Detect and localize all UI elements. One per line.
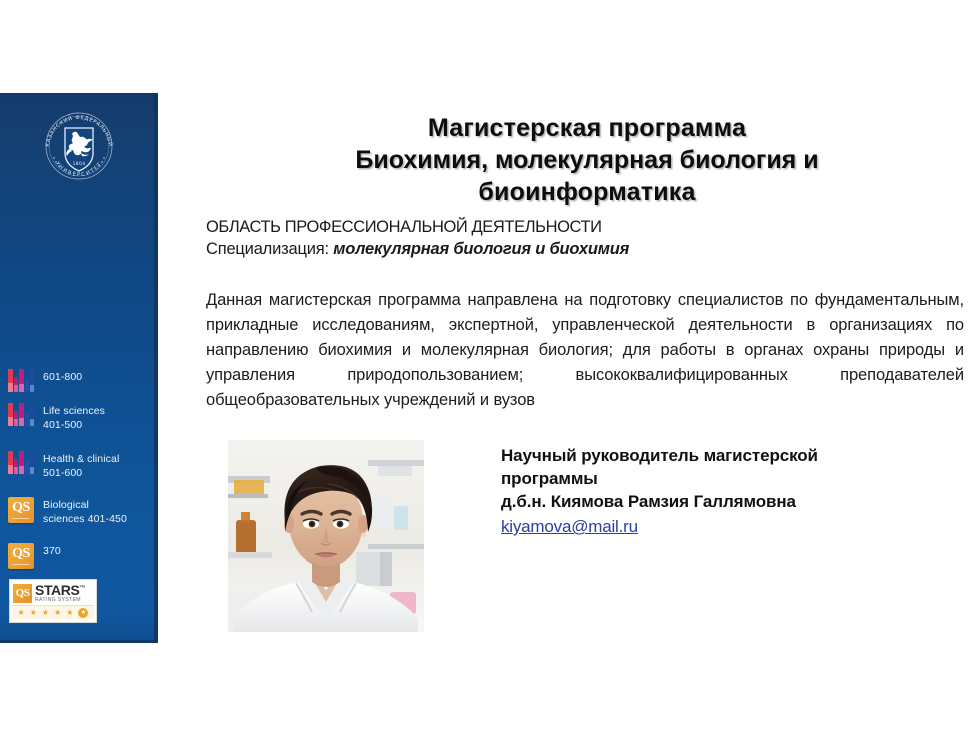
ranking-text: 601-800	[43, 369, 82, 385]
title-line-3: биоинформатика	[206, 176, 968, 208]
star-icon-highlighted: ★	[78, 608, 88, 618]
supervisor-name: д.б.н. Киямова Рамзия Галлямовна	[501, 490, 961, 513]
qs-stars-trademark: ™	[79, 585, 85, 591]
qs-logo-icon: QS	[13, 584, 32, 603]
svg-text:1804: 1804	[73, 161, 86, 167]
star-icon: ★	[30, 609, 37, 617]
ranking-row-qs-biological-sciences: QS Biological sciences 401-450	[8, 497, 127, 526]
slide-canvas: КАЗАНСКИЙ ФЕДЕРАЛЬНЫЙ УНИВЕРСИТЕТ	[0, 0, 980, 735]
supervisor-role-line-2: программы	[501, 467, 961, 490]
qs-stars-header: QS STARS™ RATING SYSTEM	[10, 580, 96, 603]
ranking-row-the-overall: 601-800	[8, 369, 82, 392]
star-icon: ★	[66, 609, 73, 617]
star-icon: ★	[42, 609, 49, 617]
professional-area-label: ОБЛАСТЬ ПРОФЕССИОНАЛЬНОЙ ДЕЯТЕЛЬНОСТИ	[206, 216, 968, 238]
supervisor-email-link[interactable]: kiyamova@mail.ru	[501, 515, 638, 538]
ranking-text: Life sciences 401-500	[43, 403, 105, 432]
ranking-row-the-health-clinical: Health & clinical 501-600	[8, 451, 119, 480]
qs-stars-subtitle: RATING SYSTEM	[35, 598, 85, 603]
ranking-row-qs-overall: QS 370	[8, 543, 61, 569]
kazan-federal-university-seal-icon: КАЗАНСКИЙ ФЕДЕРАЛЬНЫЙ УНИВЕРСИТЕТ	[36, 103, 122, 189]
ranking-text: Biological sciences 401-450	[43, 497, 127, 526]
title-line-1: Магистерская программа	[206, 112, 968, 144]
specialization-value: молекулярная биология и биохимия	[333, 240, 629, 258]
the-times-higher-education-logo-icon	[8, 403, 34, 426]
qs-stars-star-strip: ★ ★ ★ ★ ★ ★	[12, 605, 94, 619]
sidebar-bottom-edge	[0, 640, 158, 643]
subtitle-block: ОБЛАСТЬ ПРОФЕССИОНАЛЬНОЙ ДЕЯТЕЛЬНОСТИ Сп…	[206, 216, 968, 260]
program-description-paragraph: Данная магистерская программа направлена…	[206, 288, 964, 413]
supervisor-role-line-1: Научный руководитель магистерской	[501, 444, 961, 467]
supervisor-block: Научный руководитель магистерской програ…	[501, 444, 961, 538]
page-title: Магистерская программа Биохимия, молекул…	[206, 112, 968, 208]
qs-logo-icon: QS	[8, 543, 34, 569]
qs-stars-title: STARS™	[35, 583, 85, 597]
star-icon: ★	[54, 609, 61, 617]
slide-content: Магистерская программа Биохимия, молекул…	[206, 0, 968, 735]
qs-logo-icon: QS	[8, 497, 34, 523]
title-line-2: Биохимия, молекулярная биология и	[206, 144, 968, 176]
ranking-row-the-life-sciences: Life sciences 401-500	[8, 403, 105, 432]
ranking-text: 370	[43, 543, 61, 559]
the-times-higher-education-logo-icon	[8, 451, 34, 474]
sidebar-panel: КАЗАНСКИЙ ФЕДЕРАЛЬНЫЙ УНИВЕРСИТЕТ	[0, 93, 158, 643]
the-times-higher-education-logo-icon	[8, 369, 34, 392]
sidebar-right-edge	[154, 93, 158, 643]
qs-stars-wordmark: STARS™ RATING SYSTEM	[35, 583, 85, 603]
ranking-text: Health & clinical 501-600	[43, 451, 119, 480]
specialization-label: Специализация:	[206, 240, 333, 258]
star-icon: ★	[18, 609, 25, 617]
supervisor-photo	[228, 440, 424, 632]
qs-stars-rating-badge: QS STARS™ RATING SYSTEM ★ ★ ★ ★ ★ ★	[9, 579, 97, 623]
specialization-line: Специализация: молекулярная биология и б…	[206, 238, 968, 260]
